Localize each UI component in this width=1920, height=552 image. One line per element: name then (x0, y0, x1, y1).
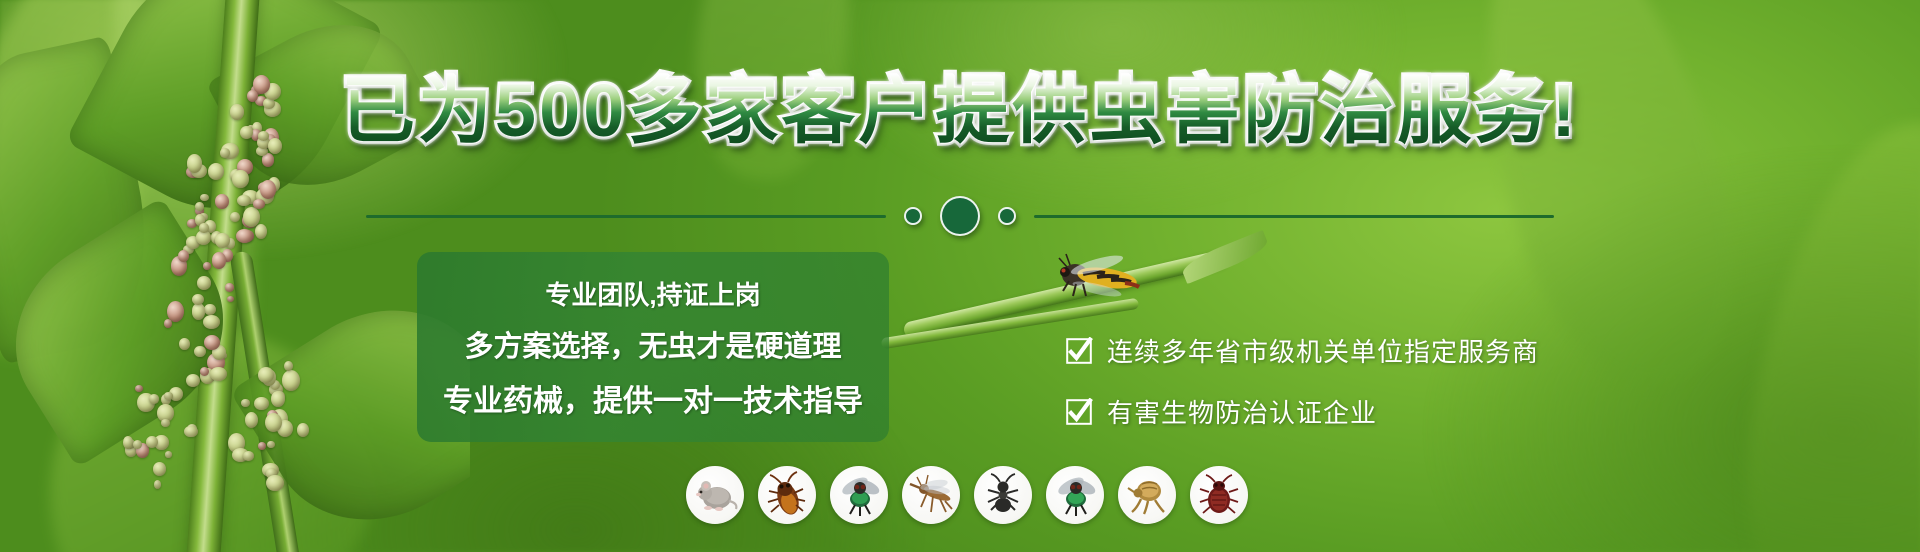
plant-flower-bud (149, 394, 159, 403)
plant-flower-bud (161, 419, 170, 427)
plant-flower-bud (204, 304, 216, 315)
checklist-item: 连续多年省市级机关单位指定服务商 (1065, 332, 1539, 369)
decorative-dot-small-right (998, 207, 1016, 225)
page-title: 已为500多家客户提供虫害防治服务! (0, 74, 1920, 148)
plant-flower-bud (241, 399, 250, 407)
plant-flower-bud (153, 462, 166, 476)
selling-point-line-2: 多方案选择，无虫才是硬道理 (464, 323, 841, 365)
pest-icon-mouse[interactable] (686, 466, 744, 524)
plant-flower-bud (232, 170, 248, 188)
selling-points-card: 专业团队,持证上岗 多方案选择，无虫才是硬道理 专业药械，提供一对一技术指导 (417, 252, 889, 442)
plant-flower-bud (154, 480, 161, 489)
plant-flower-bud (271, 391, 285, 407)
plant-flower-bud (192, 294, 204, 305)
pest-type-icon-strip (686, 466, 1248, 524)
plant-flower-bud (212, 252, 226, 268)
plant-flower-bud (184, 426, 197, 438)
pest-control-hero-banner: 已为500多家客户提供虫害防治服务! 已为500多家客户提供虫害防治服务! 专业… (0, 0, 1920, 552)
plant-flower-bud (194, 346, 206, 357)
fly-green-icon (1051, 471, 1099, 519)
selling-point-line-3: 专业药械，提供一对一技术指导 (443, 376, 863, 420)
divider-rule-right (1034, 215, 1554, 218)
mouse-icon (691, 471, 739, 519)
plant-flower-bud (220, 148, 230, 157)
divider-rule-left (366, 215, 886, 218)
plant-flower-bud (192, 303, 206, 319)
plant-flower-bud (258, 442, 266, 450)
hoverfly-icon (1045, 248, 1165, 308)
plant-flower-bud (165, 451, 172, 458)
plant-flower-bud (266, 475, 284, 492)
checkbox-checked-icon (1065, 398, 1093, 426)
plant-flower-bud (203, 315, 220, 329)
flea-icon (1123, 471, 1171, 519)
plant-flower-bud (258, 367, 274, 383)
decorative-dot-large (940, 196, 980, 236)
checklist-item-label: 有害生物防治认证企业 (1107, 393, 1377, 430)
checkbox-checked-icon (1065, 337, 1093, 365)
credentials-checklist: 连续多年省市级机关单位指定服务商 有害生物防治认证企业 (1065, 332, 1539, 430)
plant-flower-bud (197, 276, 211, 290)
fly-icon (835, 471, 883, 519)
pest-icon-mosquito[interactable] (902, 466, 960, 524)
pest-icon-fly-green[interactable] (1046, 466, 1104, 524)
ant-icon (979, 471, 1027, 519)
pest-icon-bedbug[interactable] (1190, 466, 1248, 524)
decorative-divider (0, 192, 1920, 240)
plant-flower-bud (243, 451, 254, 461)
plant-flower-bud (164, 392, 172, 399)
selling-point-line-1: 专业团队,持证上岗 (545, 275, 760, 312)
plant-flower-bud (227, 296, 235, 302)
bedbug-icon (1195, 471, 1243, 519)
decorative-dot-small-left (904, 207, 922, 225)
plant-flower-bud (267, 441, 274, 448)
plant-flower-bud (282, 370, 300, 390)
pest-icon-cockroach[interactable] (758, 466, 816, 524)
pest-icon-ant[interactable] (974, 466, 1032, 524)
pest-icon-flea[interactable] (1118, 466, 1176, 524)
checklist-item-label: 连续多年省市级机关单位指定服务商 (1107, 332, 1539, 369)
plant-flower-bud (187, 154, 203, 173)
cockroach-icon (763, 471, 811, 519)
plant-flower-bud (135, 385, 143, 392)
pest-icon-fly[interactable] (830, 466, 888, 524)
checklist-item: 有害生物防治认证企业 (1065, 393, 1539, 430)
mosquito-icon (907, 471, 955, 519)
plant-flower-bud (179, 338, 190, 350)
